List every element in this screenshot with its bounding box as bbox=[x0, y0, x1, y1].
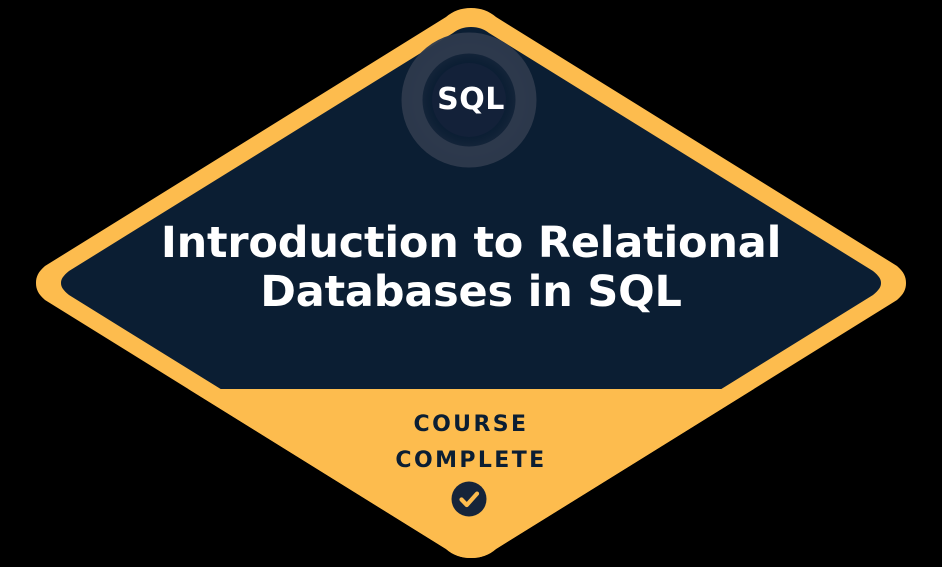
lower-orange-panel bbox=[0, 389, 942, 567]
sql-ring-icon bbox=[403, 34, 535, 166]
course-completion-badge: SQL Introduction to Relational Databases… bbox=[0, 0, 942, 567]
badge-graphic bbox=[0, 0, 942, 567]
check-circle-icon bbox=[452, 482, 487, 517]
